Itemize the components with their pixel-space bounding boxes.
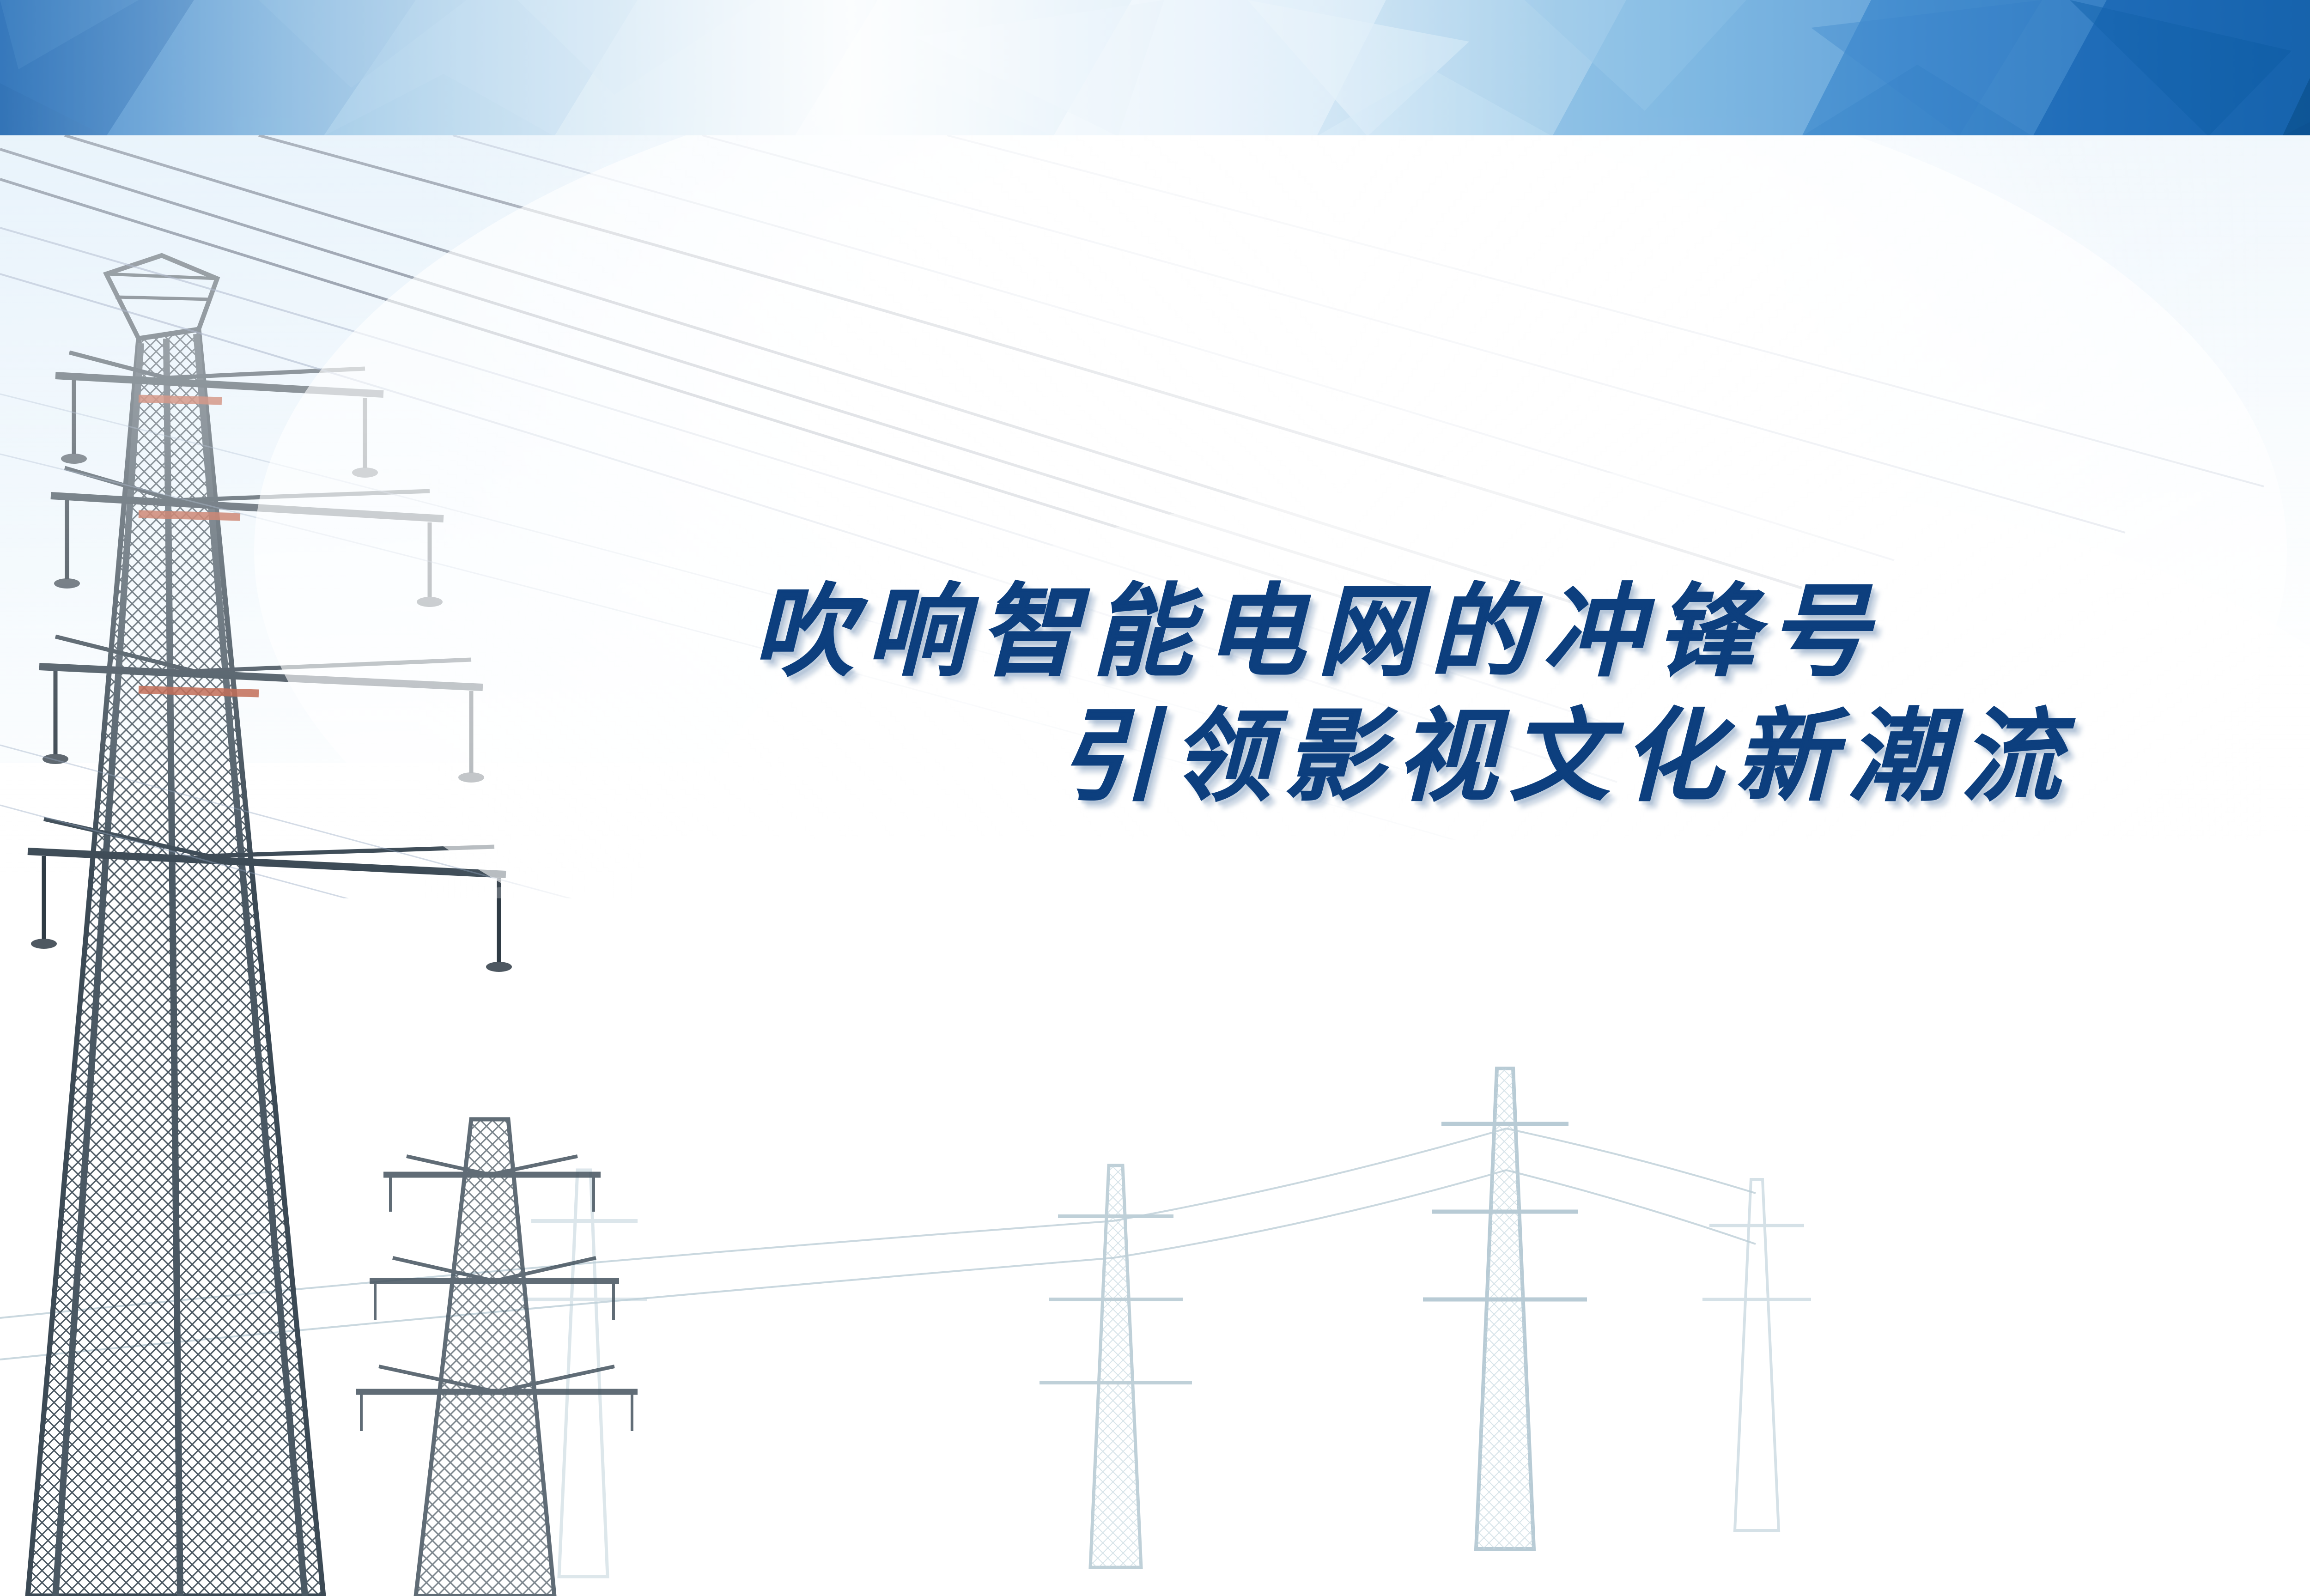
scene-artwork [0,135,2310,1596]
low-poly-banner-strip [0,0,2310,136]
smart-grid-poster-banner: 吹响智能电网的冲锋号 引领影视文化新潮流 [0,0,2310,1596]
low-poly-triangles [0,0,2310,136]
scene-photo [0,135,2310,1596]
